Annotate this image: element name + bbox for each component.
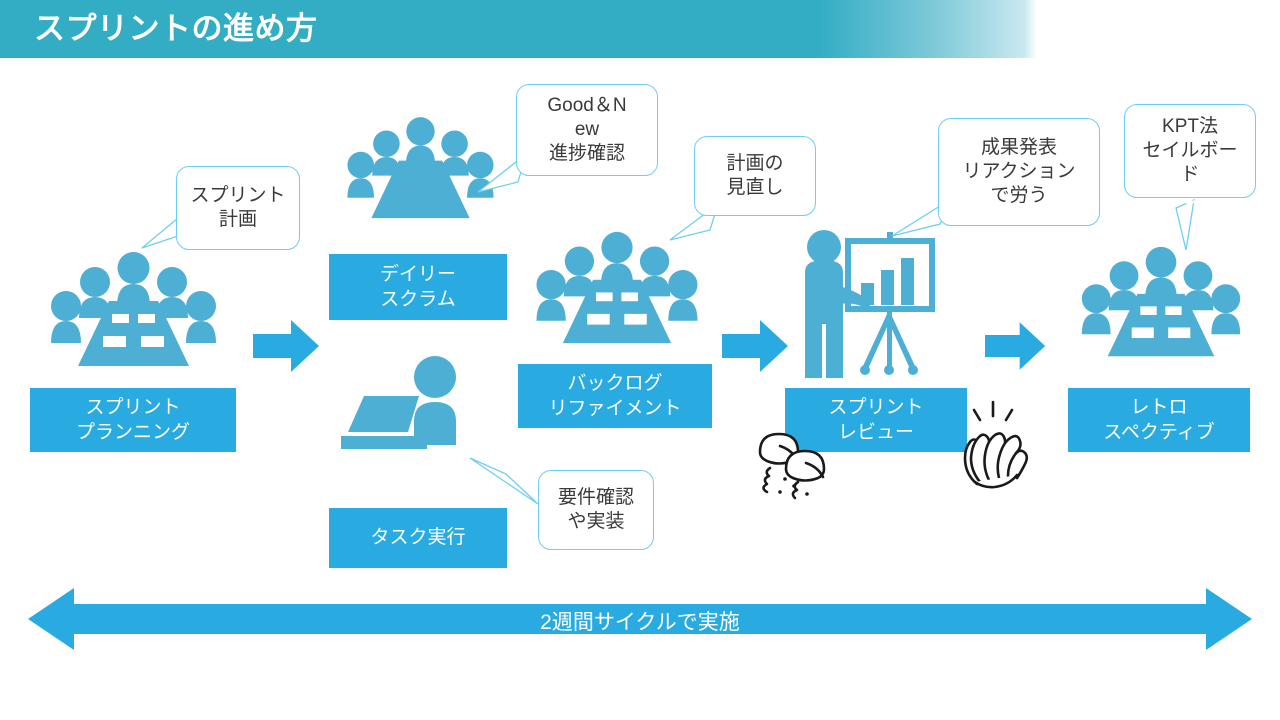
flow-arrow-2 bbox=[722, 318, 790, 374]
callout-sprint-review[interactable]: 成果発表 リアクション で労う bbox=[938, 118, 1100, 226]
callout-retrospective[interactable]: KPT法 セイルボー ド bbox=[1124, 104, 1256, 198]
stage-label-daily-scrum[interactable]: デイリー スクラム bbox=[329, 254, 507, 320]
flow-arrow-1 bbox=[253, 318, 321, 374]
flow-arrow-3 bbox=[985, 318, 1047, 374]
slide-canvas: スプリントの進め方 スプリント プランニング スプリント 計画 bbox=[0, 0, 1280, 720]
stage-label-retrospective[interactable]: レトロ スペクティブ bbox=[1068, 388, 1250, 452]
callout-sprint-planning[interactable]: スプリント 計画 bbox=[176, 166, 300, 250]
page-title: スプリントの進め方 bbox=[34, 4, 318, 54]
clapping-hands-icon-left bbox=[752, 424, 848, 504]
stage-label-sprint-planning[interactable]: スプリント プランニング bbox=[30, 388, 236, 452]
clapping-hands-icon-right bbox=[955, 398, 1035, 490]
person-laptop-icon bbox=[336, 353, 488, 465]
cycle-double-arrow bbox=[28, 588, 1252, 650]
callout-backlog-refinement[interactable]: 計画の 見直し bbox=[694, 136, 816, 216]
presenter-chart-icon bbox=[795, 228, 943, 388]
callout-daily-scrum[interactable]: Good＆N ew 進捗確認 bbox=[516, 84, 658, 176]
callout-task-execution[interactable]: 要件確認 や実装 bbox=[538, 470, 654, 550]
stage-label-backlog-refinement[interactable]: バックログ リファイメント bbox=[518, 364, 712, 428]
callout-tail-retrospective bbox=[1148, 196, 1218, 266]
